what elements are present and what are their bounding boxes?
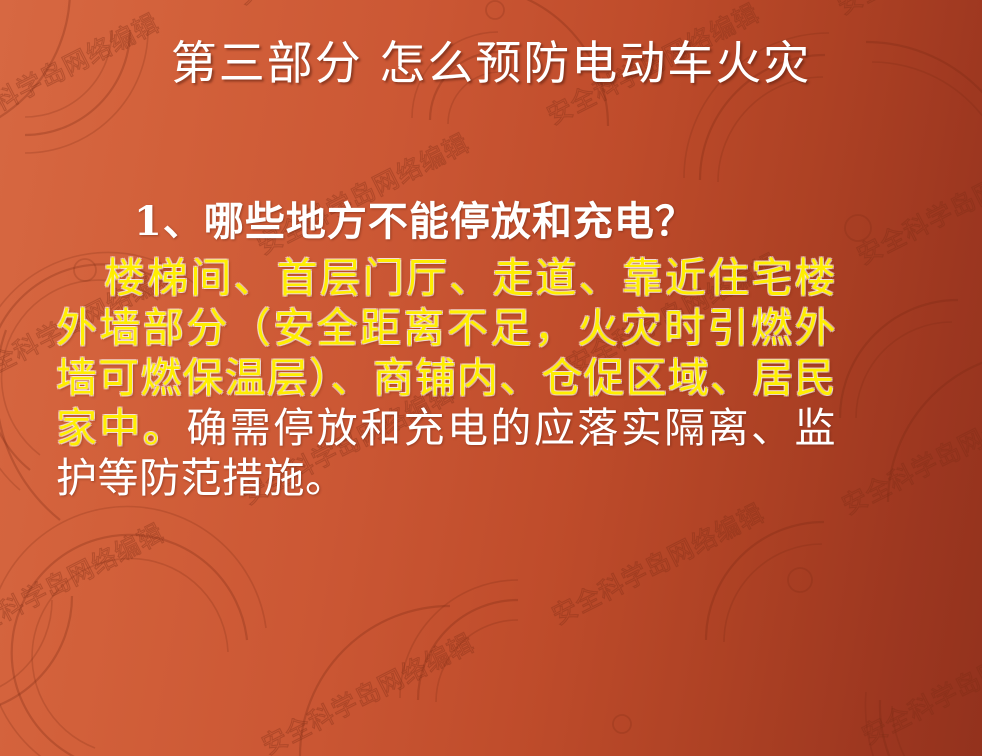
question-heading: 1、哪些地方不能停放和充电？ [0,196,982,247]
slide-body: 1、哪些地方不能停放和充电？ 楼梯间、首层门厅、走道、靠近住宅楼外墙部分（安全距… [0,196,982,503]
answer-paragraph: 楼梯间、首层门厅、走道、靠近住宅楼外墙部分（安全距离不足，火灾时引燃外墙可燃保温… [0,253,982,503]
presentation-slide: 安全科学岛网络编辑 安全科学岛网络编辑 安全科学岛网络编辑 安全科学岛网络编辑 … [0,0,982,756]
watermark-text: 安全科学岛网络编辑 [0,514,170,652]
watermark-text: 安全科学岛网络编辑 [255,624,480,756]
watermark-text: 安全科学岛网络编辑 [545,494,770,632]
watermark-text: 安全科学岛网络编辑 [230,0,455,12]
slide-title: 第三部分 怎么预防电动车火灾 [0,38,982,90]
watermark-text: 安全科学岛网络编辑 [855,614,982,752]
watermark-text: 安全科学岛网络编辑 [830,0,982,22]
